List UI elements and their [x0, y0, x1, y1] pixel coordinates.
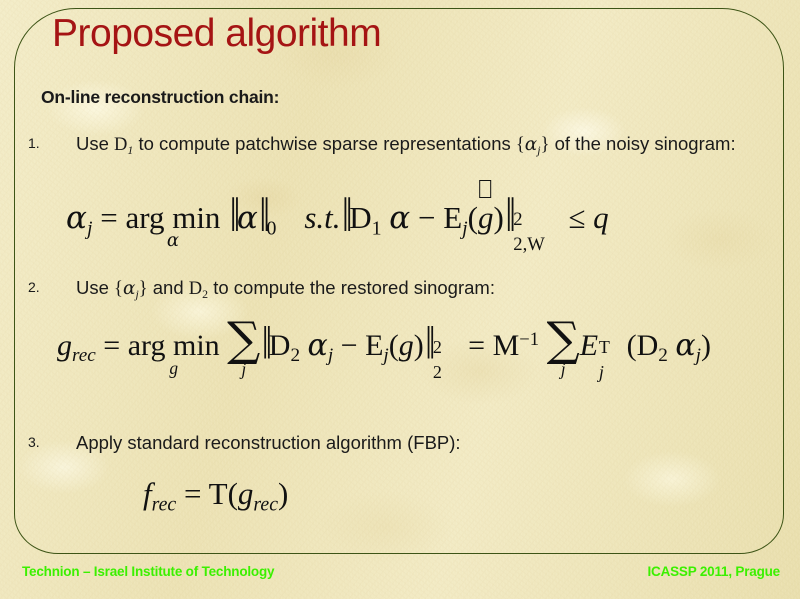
- eq1-dictionary: D1: [349, 200, 381, 235]
- eq2-paren2-open: (: [627, 329, 637, 362]
- step2-tail: to compute the restored sinogram:: [213, 277, 495, 298]
- footer-affiliation: Technion – Israel Institute of Technolog…: [22, 564, 274, 579]
- step-text-2: Use {αj} and D2 to compute the restored …: [76, 275, 748, 303]
- eq2-equals: =: [103, 329, 120, 362]
- step-number-3: 3.: [28, 433, 40, 453]
- eq2-summation-2: ∑j: [547, 316, 580, 363]
- slide-title: Proposed algorithm: [52, 12, 381, 57]
- eq1-norm2-open: ‖: [342, 193, 348, 241]
- eq1-extract-op: Ej: [443, 200, 467, 235]
- eq2-norm-open: ‖: [262, 320, 268, 367]
- eq3-equals: =: [184, 476, 201, 511]
- step-number-1: 1.: [28, 134, 40, 154]
- step2-mid: and: [153, 277, 184, 298]
- step-item-2: 2. Use {αj} and D2 to compute the restor…: [28, 275, 748, 303]
- eq2-dictionary-2: D2: [637, 329, 668, 362]
- eq1-norm-sub: 0: [267, 217, 277, 239]
- section-subheading: On-line reconstruction chain:: [41, 87, 279, 108]
- eq2-lhs: grec: [57, 329, 96, 362]
- equation-3: frec = T(grec): [143, 478, 288, 515]
- eq1-norm-close: ‖: [259, 193, 265, 241]
- step-text-1: Use D1 to compute patchwise sparse repre…: [76, 131, 748, 159]
- eq2-extract-arg: g: [399, 329, 414, 362]
- eq1-paren-open: (: [468, 200, 478, 235]
- eq1-dict-var: α: [389, 200, 410, 236]
- eq1-rhs: q: [593, 200, 609, 235]
- presentation-slide: Proposed algorithm On-line reconstructio…: [0, 0, 800, 599]
- eq2-extract-op: Ej: [365, 329, 389, 362]
- step1-tail: of the noisy sinogram:: [555, 133, 736, 154]
- eq2-norm-close: ‖: [425, 320, 431, 367]
- eq2-alpha-j-2: αj: [675, 328, 701, 363]
- eq1-equals: =: [100, 200, 117, 235]
- eq1-subject-to: s.t.: [304, 200, 340, 235]
- step1-dictionary-D1: D1: [114, 135, 133, 155]
- eq3-operator-T: T: [209, 476, 228, 511]
- eq3-paren-close: ): [278, 476, 288, 511]
- eq1-lhs: αj: [66, 200, 92, 235]
- eq2-dictionary: D2: [269, 329, 300, 362]
- step-item-3: 3. Apply standard reconstruction algorit…: [28, 430, 748, 456]
- step2-lead: Use: [76, 277, 109, 298]
- eq1-leq: ≤: [568, 200, 585, 235]
- step1-lead: Use: [76, 133, 109, 154]
- eq2-mass-matrix: M−1: [493, 329, 539, 362]
- step1-mid: to compute patchwise sparse representati…: [138, 133, 510, 154]
- eq2-argmin: arg ming: [128, 331, 220, 361]
- step-text-3: Apply standard reconstruction algorithm …: [76, 430, 748, 456]
- equation-2: grec = arg ming ∑j‖D2 αj − Ej(g)‖22 = M−…: [57, 316, 711, 365]
- eq3-argument: grec: [238, 476, 278, 511]
- eq1-argmin: arg minα: [125, 202, 220, 233]
- eq2-paren-close: ): [414, 329, 424, 362]
- eq1-norm2-close: ‖: [505, 193, 511, 241]
- step1-alpha-set: {αj}: [516, 135, 550, 155]
- step2-alpha-set: {αj}: [114, 279, 148, 299]
- step-item-1: 1. Use D1 to compute patchwise sparse re…: [28, 131, 748, 159]
- equation-1: αj = arg minα ‖α‖0 s.t.‖D1 α − Ej(g)‖22,…: [66, 198, 609, 239]
- eq2-alpha-j: αj: [308, 328, 334, 363]
- eq1-norm-open: ‖: [230, 193, 236, 241]
- step2-dictionary-D2: D2: [189, 279, 208, 299]
- eq1-g-tilde-missing-glyph: g: [478, 202, 494, 233]
- eq1-norm-arg: α: [237, 200, 258, 236]
- eq1-minus: −: [418, 200, 435, 235]
- eq2-summation-1: ∑j: [227, 316, 260, 363]
- footer-conference: ICASSP 2011, Prague: [647, 564, 780, 579]
- eq3-paren-open: (: [228, 476, 238, 511]
- eq2-equals-2: =: [468, 329, 485, 362]
- eq3-lhs: frec: [143, 476, 176, 511]
- eq2-extract-transpose: ETj: [580, 329, 627, 362]
- eq2-paren2-close: ): [701, 329, 711, 362]
- step-number-2: 2.: [28, 278, 40, 298]
- eq2-paren-open: (: [389, 329, 399, 362]
- missing-glyph-box-icon: [479, 180, 491, 198]
- eq2-minus: −: [341, 329, 358, 362]
- eq1-paren-close: ): [494, 200, 504, 235]
